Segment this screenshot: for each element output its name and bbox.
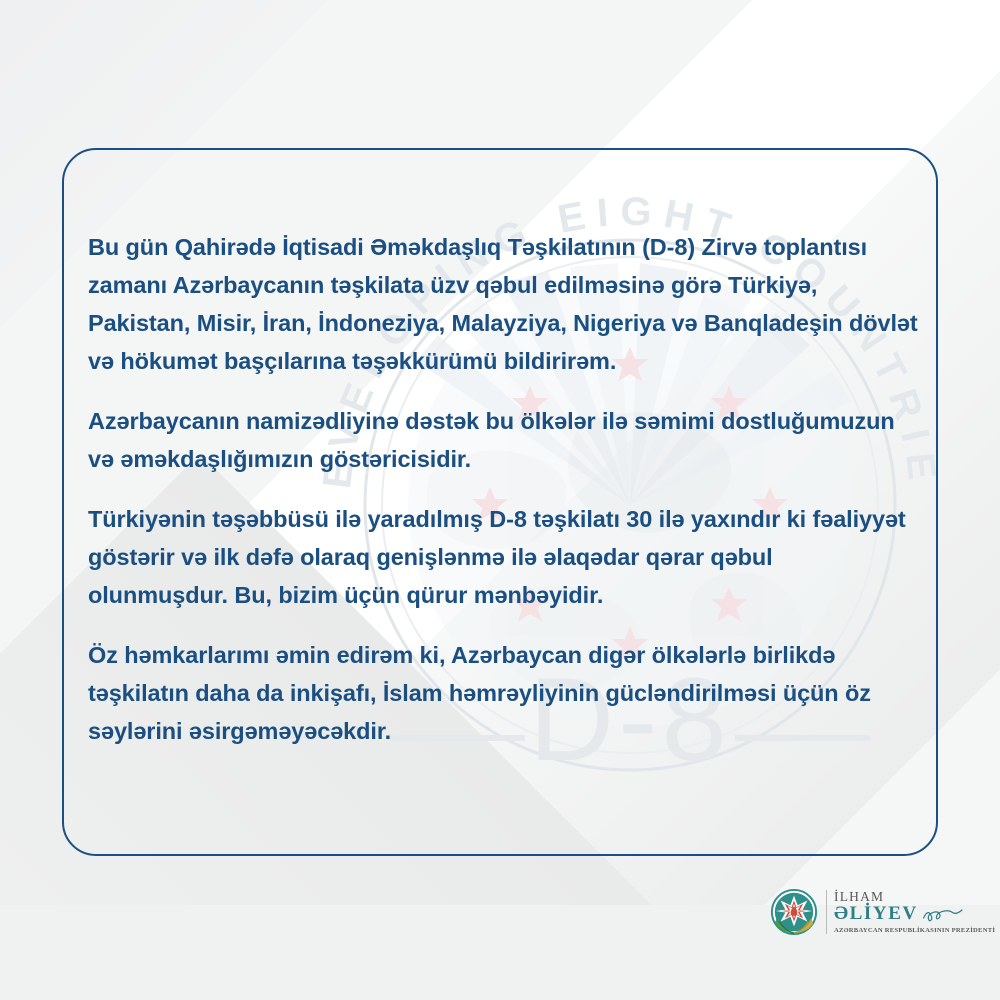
statement-paragraph-2: Azərbaycanın namizədliyinə dəstək bu ölk… [88,402,918,478]
azerbaijan-coat-of-arms-icon [770,888,818,936]
logo-last-name: ƏLİYEV [834,904,918,924]
logo-first-name: İLHAM [834,890,995,904]
signature-icon [922,905,966,923]
logo-text-group: İLHAM ƏLİYEV AZƏRBAYCAN RESPUBLİKASININ … [826,890,995,934]
statement-paragraph-1: Bu gün Qahirədə İqtisadi Əməkdaşlıq Təşk… [88,228,918,380]
statement-page: DEVELOPING EIGHT COUNTRIES D-8 Bu gün Qa… [0,0,1000,1000]
statement-paragraph-3: Türkiyənin təşəbbüsü ilə yaradılmış D-8 … [88,500,918,614]
logo-name-signature-row: ƏLİYEV [834,904,995,924]
logo-subtitle: AZƏRBAYCAN RESPUBLİKASININ PREZİDENTİ [834,926,995,935]
statement-text-block: Bu gün Qahirədə İqtisadi Əməkdaşlıq Təşk… [88,228,918,750]
statement-paragraph-4: Öz həmkarlarımı əmin edirəm ki, Azərbayc… [88,636,918,750]
presidential-logo-lockup: İLHAM ƏLİYEV AZƏRBAYCAN RESPUBLİKASININ … [770,884,955,940]
